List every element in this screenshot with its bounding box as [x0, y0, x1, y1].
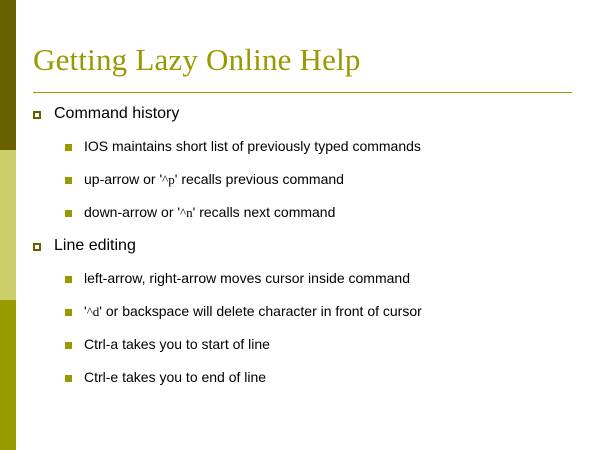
list-item: Command history	[0, 104, 600, 137]
list-item-label: down-arrow or '^n' recalls next command	[84, 203, 335, 222]
list-item-label: Command history	[54, 104, 179, 124]
list-item-label: Ctrl-e takes you to end of line	[84, 368, 266, 387]
list-item: IOS maintains short list of previously t…	[0, 137, 600, 170]
filled-square-bullet-icon	[65, 276, 72, 283]
filled-square-bullet-icon	[65, 375, 72, 382]
bullet-list: Command history IOS maintains short list…	[0, 104, 600, 401]
list-item: Ctrl-a takes you to start of line	[0, 335, 600, 368]
text-segment-after: ' recalls previous command	[175, 171, 344, 187]
slide: Getting Lazy Online Help Command history…	[0, 0, 600, 450]
list-item-label: left-arrow, right-arrow moves cursor ins…	[84, 269, 410, 288]
list-item: Ctrl-e takes you to end of line	[0, 368, 600, 401]
hollow-square-bullet-icon	[33, 243, 41, 251]
filled-square-bullet-icon	[65, 210, 72, 217]
text-segment-after: ' recalls next command	[193, 204, 336, 220]
key-sequence: ^n	[180, 205, 193, 220]
filled-square-bullet-icon	[65, 309, 72, 316]
list-item-label: Line editing	[54, 236, 136, 256]
list-item: up-arrow or '^p' recalls previous comman…	[0, 170, 600, 203]
list-item: down-arrow or '^n' recalls next command	[0, 203, 600, 236]
list-item: left-arrow, right-arrow moves cursor ins…	[0, 269, 600, 302]
key-sequence: ^p	[162, 172, 175, 187]
title-underline-rule	[33, 92, 572, 93]
text-segment-after: ' or backspace will delete character in …	[99, 303, 422, 319]
list-item-label: '^d' or backspace will delete character …	[84, 302, 422, 321]
list-item-label: Ctrl-a takes you to start of line	[84, 335, 270, 354]
list-item: Line editing	[0, 236, 600, 269]
list-item-label: up-arrow or '^p' recalls previous comman…	[84, 170, 344, 189]
filled-square-bullet-icon	[65, 144, 72, 151]
text-segment-before: down-arrow or '	[84, 204, 180, 220]
filled-square-bullet-icon	[65, 342, 72, 349]
list-item: '^d' or backspace will delete character …	[0, 302, 600, 335]
list-item-label: IOS maintains short list of previously t…	[84, 137, 421, 156]
key-sequence: ^d	[87, 304, 100, 319]
slide-title: Getting Lazy Online Help	[33, 42, 361, 78]
text-segment-before: up-arrow or '	[84, 171, 162, 187]
hollow-square-bullet-icon	[33, 111, 41, 119]
filled-square-bullet-icon	[65, 177, 72, 184]
